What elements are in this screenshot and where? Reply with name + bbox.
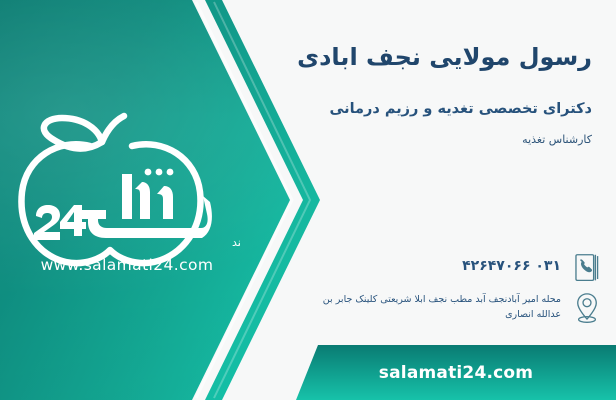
logo-tagline: به راحتی یک لبخند bbox=[232, 236, 240, 249]
doctor-name: رسول مولایی نجف ابادی bbox=[292, 42, 592, 72]
map-pin-icon bbox=[570, 288, 604, 328]
contact-row-address[interactable]: محله امیر آبادنجف آبد مطب نجف ابلا شریعت… bbox=[296, 288, 604, 328]
clinic-address[interactable]: محله امیر آبادنجف آبد مطب نجف ابلا شریعت… bbox=[296, 290, 561, 322]
contact-row-phone[interactable]: ۴۲۶۴۷۰۶۶ ۰۳۱ bbox=[296, 248, 604, 288]
brand-logo: به راحتی یک لبخند www.salamati24.com bbox=[14, 110, 240, 275]
footer-website[interactable]: salamati24.com bbox=[379, 363, 533, 383]
info-column: رسول مولایی نجف ابادی دکترای تخصصی تغدیه… bbox=[286, 0, 616, 400]
phone-book-icon bbox=[570, 248, 604, 288]
business-card: به راحتی یک لبخند www.salamati24.com رسو… bbox=[0, 0, 616, 400]
apple-fruit-outline-icon: به راحتی یک لبخند www.salamati24.com bbox=[14, 110, 240, 275]
logo-number-24 bbox=[34, 205, 86, 240]
logo-website-url: www.salamati24.com bbox=[41, 256, 214, 274]
doctor-degree: دکترای تخصصی تغدیه و رزیم درمانی bbox=[292, 100, 592, 119]
phone-number[interactable]: ۴۲۶۴۷۰۶۶ ۰۳۱ bbox=[296, 250, 561, 274]
doctor-role: کارشناس تغذیه bbox=[292, 133, 592, 147]
footer-bar: salamati24.com bbox=[296, 345, 616, 400]
